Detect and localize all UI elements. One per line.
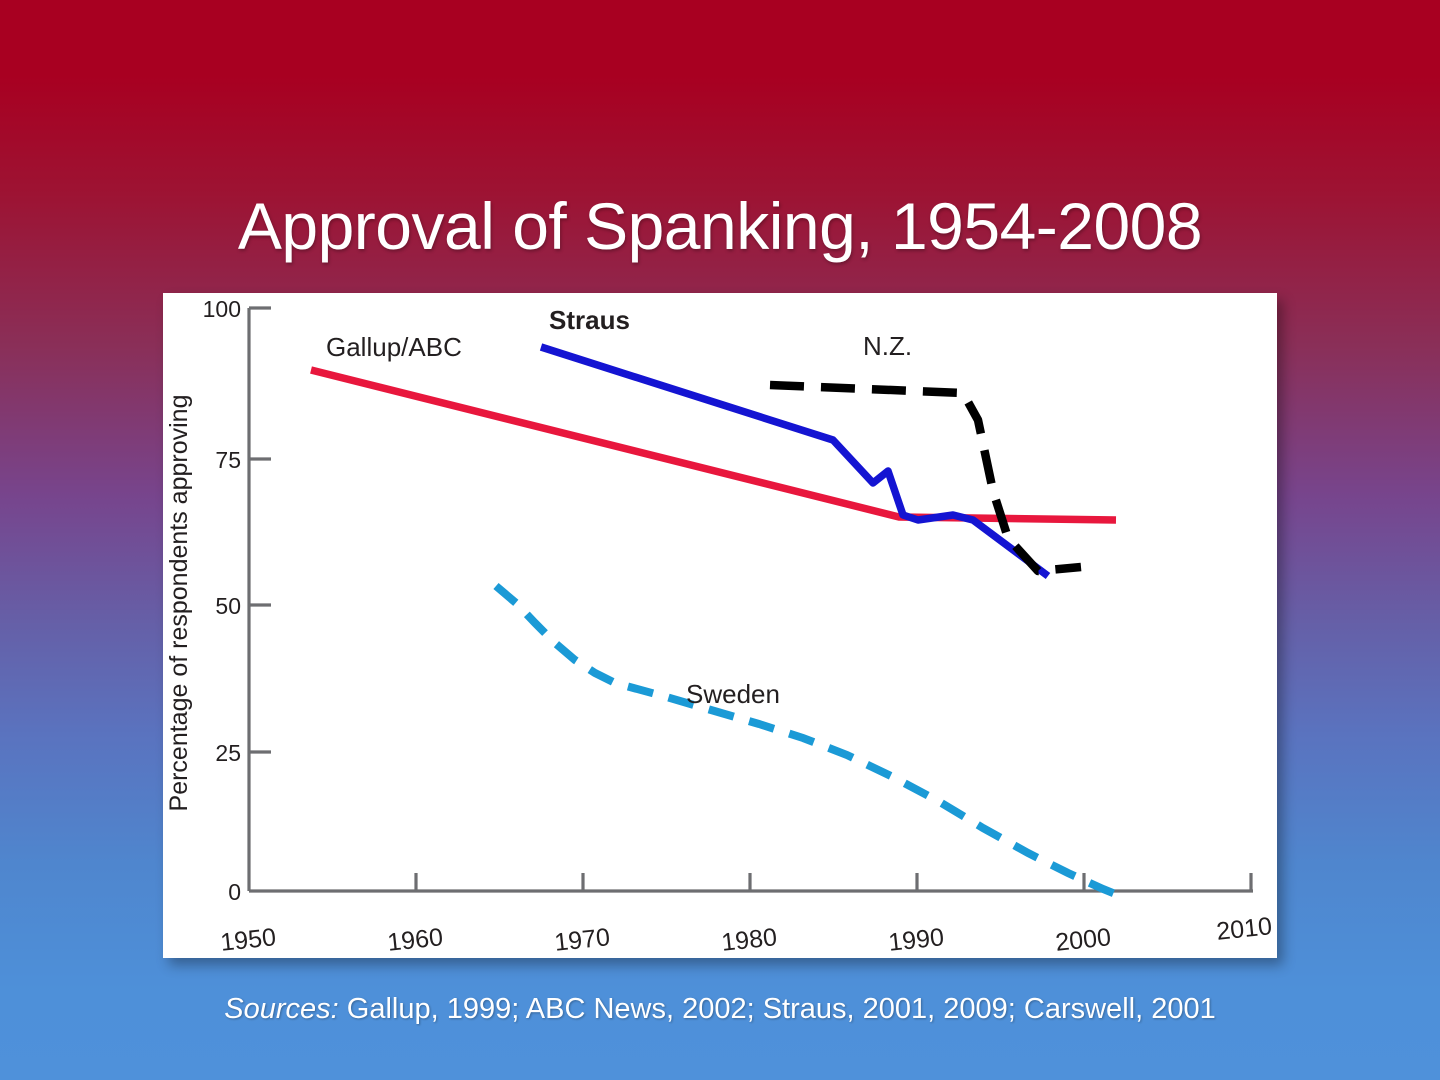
series-label-nz: N.Z. <box>863 331 912 361</box>
x-tick-label-1980: 1980 <box>720 923 778 957</box>
series-label-gallup-abc: Gallup/ABC <box>326 332 462 362</box>
y-tick-label-50: 50 <box>215 593 241 619</box>
chart-panel: 100 75 50 25 0 1950 1960 1970 1980 1990 … <box>163 293 1277 958</box>
x-tick-label-2000: 2000 <box>1054 923 1112 957</box>
line-chart: 100 75 50 25 0 1950 1960 1970 1980 1990 … <box>163 293 1277 958</box>
y-tick-label-100: 100 <box>203 296 241 322</box>
y-axis-title: Percentage of respondents approving <box>165 395 193 812</box>
series-label-sweden: Sweden <box>686 679 780 709</box>
x-tick-label-1960: 1960 <box>386 923 444 957</box>
page-title: Approval of Spanking, 1954-2008 <box>0 192 1440 261</box>
sources-label: Sources: <box>224 993 338 1025</box>
sources-citation: Gallup, 1999; ABC News, 2002; Straus, 20… <box>339 993 1216 1025</box>
series-label-straus: Straus <box>549 305 630 335</box>
x-tick-label-2010: 2010 <box>1215 912 1273 946</box>
x-tick-label-1950: 1950 <box>219 923 277 957</box>
x-tick-label-1990: 1990 <box>887 923 945 957</box>
y-tick-label-75: 75 <box>215 447 241 473</box>
chart-background <box>163 293 1277 958</box>
slide-canvas: Approval of Spanking, 1954-2008 <box>0 0 1440 1080</box>
sources-caption: Sources: Gallup, 1999; ABC News, 2002; S… <box>0 993 1440 1026</box>
y-tick-label-25: 25 <box>215 740 241 766</box>
x-tick-label-1970: 1970 <box>553 923 611 957</box>
y-tick-label-0: 0 <box>228 879 241 905</box>
